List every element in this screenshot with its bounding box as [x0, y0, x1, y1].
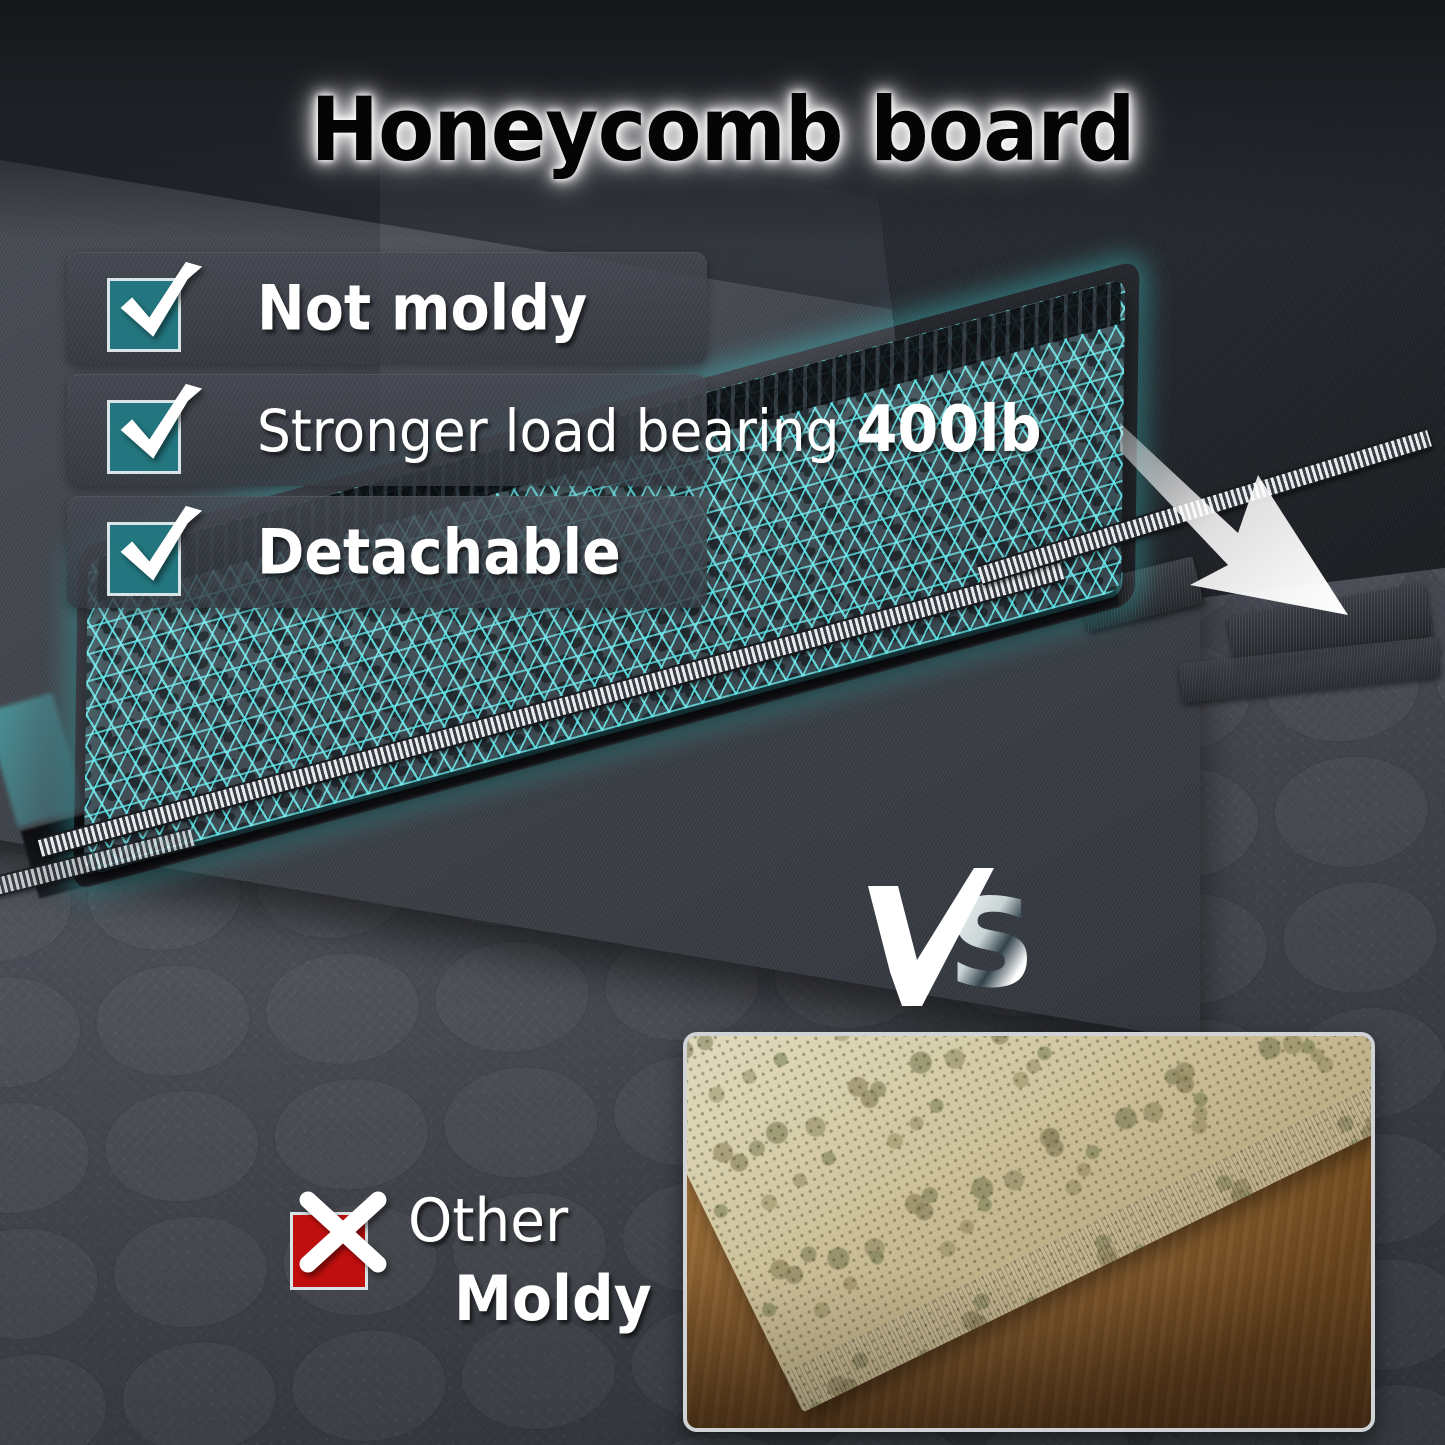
down-right-arrow-icon	[1120, 415, 1370, 625]
negative-labels: Other Moldy	[408, 1186, 664, 1335]
check-mark-group	[107, 390, 195, 474]
feature-label: Stronger load bearing 400lb	[257, 393, 1042, 467]
feature-label-emphasis: 400lb	[856, 393, 1041, 467]
negative-label-other: Other	[408, 1186, 649, 1256]
check-icon	[111, 380, 207, 476]
product-feature-graphic: Honeycomb board Not moldy Stronger load …	[0, 0, 1445, 1445]
honeycomb-board	[88, 560, 1228, 1080]
negative-label-moldy: Moldy	[454, 1262, 652, 1335]
feature-label: Detachable	[257, 516, 621, 589]
feature-row-load-bearing: Stronger load bearing 400lb	[67, 374, 707, 486]
page-title: Honeycomb board	[51, 78, 1395, 181]
x-mark-group	[288, 1198, 384, 1294]
feature-row-not-moldy: Not moldy	[67, 252, 707, 364]
feature-list: Not moldy Stronger load bearing 400lb De…	[67, 252, 707, 608]
moldy-board-photo	[683, 1032, 1375, 1432]
feature-row-detachable: Detachable	[67, 496, 707, 608]
check-icon	[111, 502, 207, 598]
versus-badge: S	[862, 868, 1032, 1008]
check-mark-group	[107, 268, 195, 352]
check-mark-group	[107, 512, 195, 596]
feature-label: Not moldy	[257, 272, 587, 345]
check-icon	[111, 258, 207, 354]
feature-label-text: Stronger load bearing	[257, 397, 839, 465]
x-icon	[294, 1184, 394, 1284]
